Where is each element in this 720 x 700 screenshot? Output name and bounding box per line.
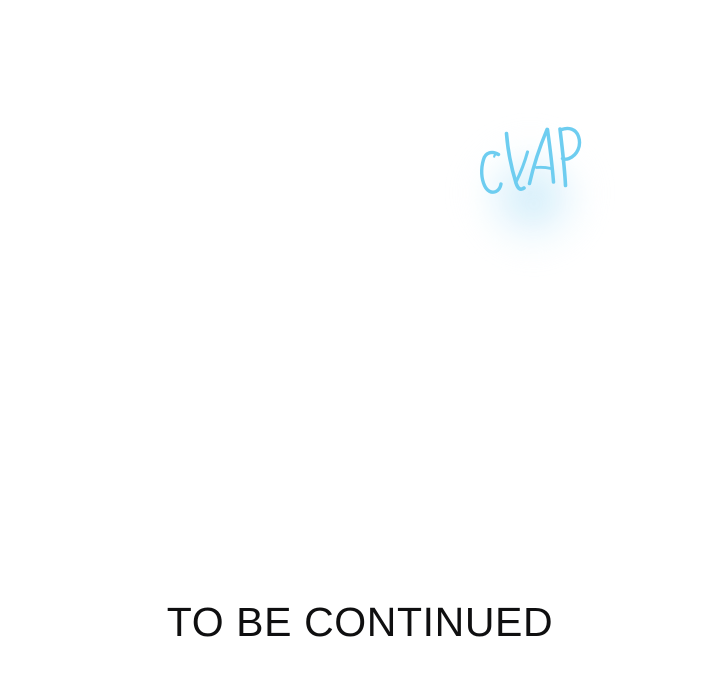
sound-effect-clap (440, 105, 620, 270)
clap-lettering-icon (440, 105, 620, 270)
to-be-continued-caption: TO BE CONTINUED (0, 600, 720, 644)
comic-panel: TO BE CONTINUED (0, 0, 720, 700)
